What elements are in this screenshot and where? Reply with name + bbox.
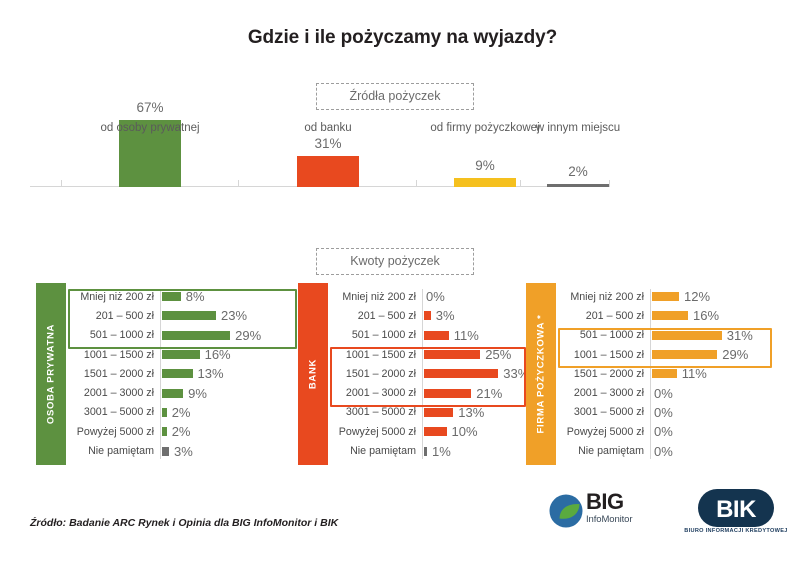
amount-row-bar-area: 8% bbox=[162, 287, 205, 306]
amount-bar-value: 29% bbox=[235, 328, 261, 343]
panel-band-firma: FIRMA POŻYCZKOWA * bbox=[526, 283, 556, 465]
table-row: 201 – 500 zł3% bbox=[332, 306, 526, 325]
amount-bar-value: 10% bbox=[452, 424, 478, 439]
source-category-4: 2%w innym miejscu bbox=[519, 117, 637, 187]
amount-row-label: Powyżej 5000 zł bbox=[560, 422, 644, 441]
amount-bar bbox=[162, 389, 183, 398]
amount-row-bar-area: 0% bbox=[652, 441, 673, 460]
amount-row-label: Nie pamiętam bbox=[332, 441, 416, 460]
amount-row-label: 2001 – 3000 zł bbox=[70, 383, 154, 402]
amount-row-label: 501 – 1000 zł bbox=[332, 326, 416, 345]
amount-row-bar-area: 0% bbox=[652, 403, 673, 422]
amount-bar bbox=[424, 350, 480, 359]
amount-row-bar-area: 0% bbox=[424, 287, 445, 306]
amount-row-bar-area: 31% bbox=[652, 326, 753, 345]
amount-bar bbox=[652, 331, 722, 340]
source-bar-value: 2% bbox=[568, 164, 588, 179]
source-bar-label: w innym miejscu bbox=[536, 122, 620, 134]
amount-row-label: Nie pamiętam bbox=[70, 441, 154, 460]
table-row: 501 – 1000 zł29% bbox=[70, 326, 298, 345]
amount-bar-value: 0% bbox=[426, 289, 445, 304]
amount-bar bbox=[424, 408, 453, 417]
amount-row-bar-area: 16% bbox=[162, 345, 231, 364]
amount-bar-value: 2% bbox=[172, 405, 191, 420]
amount-bar bbox=[424, 369, 498, 378]
rows-firma: Mniej niż 200 zł12%201 – 500 zł16%501 – … bbox=[560, 287, 771, 461]
amount-row-bar-area: 29% bbox=[162, 326, 261, 345]
amount-row-bar-area: 16% bbox=[652, 306, 719, 325]
amount-row-bar-area: 0% bbox=[652, 383, 673, 402]
table-row: 1501 – 2000 zł11% bbox=[560, 364, 771, 383]
table-row: 3001 – 5000 zł0% bbox=[560, 403, 771, 422]
amount-bar-value: 1% bbox=[432, 444, 451, 459]
amount-bar bbox=[162, 311, 216, 320]
amount-bar-value: 31% bbox=[727, 328, 753, 343]
table-row: 201 – 500 zł23% bbox=[70, 306, 298, 325]
source-bar-value: 9% bbox=[475, 158, 495, 173]
amount-row-bar-area: 1% bbox=[424, 441, 451, 460]
amount-bar bbox=[652, 369, 677, 378]
amount-bar-value: 0% bbox=[654, 405, 673, 420]
logo-big-infomonitor: BIG InfoMonitor bbox=[548, 491, 658, 539]
panel-band-label-osoba: OSOBA PRYWATNA bbox=[46, 324, 57, 424]
table-row: 1001 – 1500 zł25% bbox=[332, 345, 526, 364]
panel-osoba-prywatna: OSOBA PRYWATNA Mniej niż 200 zł8%201 – 5… bbox=[36, 283, 298, 465]
source-note: Źródło: Badanie ARC Rynek i Opinia dla B… bbox=[30, 517, 338, 529]
source-bar-value: 67% bbox=[136, 100, 163, 115]
footer-logos: BIG InfoMonitor BIK BIURO INFORMACJI KRE… bbox=[548, 487, 788, 543]
page-title: Gdzie i ile pożyczamy na wyjazdy? bbox=[0, 27, 805, 49]
panel-band-osoba: OSOBA PRYWATNA bbox=[36, 283, 66, 465]
table-row: 501 – 1000 zł11% bbox=[332, 326, 526, 345]
amount-row-bar-area: 25% bbox=[424, 345, 511, 364]
table-row: 1501 – 2000 zł33% bbox=[332, 364, 526, 383]
panel-band-label-firma: FIRMA POŻYCZKOWA * bbox=[536, 314, 547, 433]
amount-row-label: 501 – 1000 zł bbox=[560, 326, 644, 345]
amount-bar-value: 25% bbox=[485, 347, 511, 362]
table-row: 201 – 500 zł16% bbox=[560, 306, 771, 325]
table-row: 1001 – 1500 zł29% bbox=[560, 345, 771, 364]
amount-bar bbox=[162, 292, 181, 301]
amount-row-bar-area: 21% bbox=[424, 383, 502, 402]
amount-row-bar-area: 29% bbox=[652, 345, 748, 364]
amount-bar-value: 0% bbox=[654, 444, 673, 459]
amount-row-label: 1501 – 2000 zł bbox=[560, 364, 644, 383]
table-row: Nie pamiętam0% bbox=[560, 441, 771, 460]
amount-bar-value: 16% bbox=[205, 347, 231, 362]
amount-row-label: Mniej niż 200 zł bbox=[70, 287, 154, 306]
table-row: Mniej niż 200 zł8% bbox=[70, 287, 298, 306]
table-row: 2001 – 3000 zł9% bbox=[70, 383, 298, 402]
sources-bar-chart: 67%od osoby prywatnej31%od banku9%od fir… bbox=[30, 105, 610, 205]
amount-row-label: 501 – 1000 zł bbox=[70, 326, 154, 345]
amount-row-label: 1001 – 1500 zł bbox=[332, 345, 416, 364]
amount-row-bar-area: 23% bbox=[162, 306, 247, 325]
amount-row-bar-area: 13% bbox=[162, 364, 224, 383]
table-row: 1501 – 2000 zł13% bbox=[70, 364, 298, 383]
amount-row-label: 201 – 500 zł bbox=[560, 306, 644, 325]
amount-row-label: 1001 – 1500 zł bbox=[560, 345, 644, 364]
table-row: Mniej niż 200 zł12% bbox=[560, 287, 771, 306]
amount-bar bbox=[652, 292, 679, 301]
amount-bar-value: 11% bbox=[682, 366, 707, 381]
amount-row-label: Mniej niż 200 zł bbox=[332, 287, 416, 306]
amount-row-label: 201 – 500 zł bbox=[332, 306, 416, 325]
amount-bar-value: 0% bbox=[654, 386, 673, 401]
big-logo-wordmark: BIG InfoMonitor bbox=[586, 490, 632, 525]
source-bar: 31% bbox=[297, 156, 359, 187]
section-header-amounts: Kwoty pożyczek bbox=[316, 248, 474, 275]
amount-row-label: 1001 – 1500 zł bbox=[70, 345, 154, 364]
amount-bar bbox=[652, 350, 717, 359]
big-logo-subtitle: InfoMonitor bbox=[586, 514, 632, 525]
amount-row-label: 1501 – 2000 zł bbox=[70, 364, 154, 383]
table-row: Powyżej 5000 zł0% bbox=[560, 422, 771, 441]
amount-row-bar-area: 3% bbox=[162, 441, 193, 460]
panel-band-bank: BANK bbox=[298, 283, 328, 465]
amount-bar-value: 2% bbox=[172, 424, 191, 439]
amount-row-bar-area: 12% bbox=[652, 287, 710, 306]
amount-bar bbox=[162, 408, 167, 417]
source-bar-label: od osoby prywatnej bbox=[100, 122, 199, 134]
amount-bar-value: 13% bbox=[198, 366, 224, 381]
amount-bar bbox=[162, 427, 167, 436]
amount-bar bbox=[162, 369, 193, 378]
amount-bar-value: 12% bbox=[684, 289, 710, 304]
amount-bar-value: 13% bbox=[458, 405, 484, 420]
rows-osoba: Mniej niż 200 zł8%201 – 500 zł23%501 – 1… bbox=[70, 287, 298, 461]
amount-bar bbox=[162, 447, 169, 456]
table-row: 3001 – 5000 zł13% bbox=[332, 403, 526, 422]
amount-bar-value: 21% bbox=[476, 386, 502, 401]
amount-bar-value: 16% bbox=[693, 308, 719, 323]
amount-bar-value: 3% bbox=[436, 308, 455, 323]
amount-bar bbox=[652, 311, 688, 320]
amount-bar bbox=[424, 427, 447, 436]
amount-bar bbox=[424, 311, 431, 320]
amount-row-bar-area: 10% bbox=[424, 422, 478, 441]
source-bar-label: od banku bbox=[304, 122, 351, 134]
amount-bar-value: 8% bbox=[186, 289, 205, 304]
amount-row-bar-area: 11% bbox=[424, 326, 479, 345]
amount-bar bbox=[424, 447, 427, 456]
amount-bar-value: 11% bbox=[454, 328, 479, 343]
source-bar-value: 31% bbox=[314, 136, 341, 151]
amount-bar-value: 0% bbox=[654, 424, 673, 439]
table-row: 2001 – 3000 zł21% bbox=[332, 383, 526, 402]
amount-bar bbox=[424, 331, 449, 340]
amount-row-bar-area: 3% bbox=[424, 306, 455, 325]
panel-firma-pozyczkowa: FIRMA POŻYCZKOWA * Mniej niż 200 zł12%20… bbox=[526, 283, 771, 465]
amount-row-label: Mniej niż 200 zł bbox=[560, 287, 644, 306]
amount-bar bbox=[162, 331, 230, 340]
amount-bar-value: 23% bbox=[221, 308, 247, 323]
source-category-2: 31%od banku bbox=[240, 117, 417, 187]
big-logo-icon bbox=[548, 493, 584, 529]
amount-row-label: Powyżej 5000 zł bbox=[332, 422, 416, 441]
amount-row-bar-area: 2% bbox=[162, 422, 190, 441]
amount-bar-value: 3% bbox=[174, 444, 193, 459]
table-row: Powyżej 5000 zł2% bbox=[70, 422, 298, 441]
source-category-1: 67%od osoby prywatnej bbox=[62, 117, 239, 187]
table-row: 1001 – 1500 zł16% bbox=[70, 345, 298, 364]
panel-bank: BANK Mniej niż 200 zł0%201 – 500 zł3%501… bbox=[298, 283, 526, 465]
amount-bar bbox=[162, 350, 200, 359]
table-row: Nie pamiętam3% bbox=[70, 441, 298, 460]
amount-row-label: 3001 – 5000 zł bbox=[70, 403, 154, 422]
amount-row-bar-area: 13% bbox=[424, 403, 484, 422]
amount-bar-value: 29% bbox=[722, 347, 748, 362]
table-row: 2001 – 3000 zł0% bbox=[560, 383, 771, 402]
amount-row-label: Nie pamiętam bbox=[560, 441, 644, 460]
table-row: 501 – 1000 zł31% bbox=[560, 326, 771, 345]
amount-bar bbox=[424, 389, 471, 398]
amount-row-label: 201 – 500 zł bbox=[70, 306, 154, 325]
bik-logo-subtitle: BIURO INFORMACJI KREDYTOWEJ bbox=[676, 528, 796, 534]
amount-row-label: 1501 – 2000 zł bbox=[332, 364, 416, 383]
amount-row-label: 3001 – 5000 zł bbox=[332, 403, 416, 422]
logo-bik: BIK BIURO INFORMACJI KREDYTOWEJ bbox=[676, 489, 796, 541]
bik-logo-icon: BIK bbox=[684, 489, 788, 527]
amount-row-label: 2001 – 3000 zł bbox=[332, 383, 416, 402]
source-bar: 2% bbox=[547, 184, 609, 187]
svg-text:BIK: BIK bbox=[716, 496, 757, 523]
amount-row-bar-area: 0% bbox=[652, 422, 673, 441]
table-row: Nie pamiętam1% bbox=[332, 441, 526, 460]
amount-bar-value: 9% bbox=[188, 386, 207, 401]
infographic-page: Gdzie i ile pożyczamy na wyjazdy? Źródła… bbox=[0, 0, 805, 565]
table-row: 3001 – 5000 zł2% bbox=[70, 403, 298, 422]
source-bar: 9% bbox=[454, 178, 516, 187]
panel-band-label-bank: BANK bbox=[308, 359, 319, 389]
table-row: Powyżej 5000 zł10% bbox=[332, 422, 526, 441]
amount-row-bar-area: 11% bbox=[652, 364, 707, 383]
rows-bank: Mniej niż 200 zł0%201 – 500 zł3%501 – 10… bbox=[332, 287, 526, 461]
amount-row-bar-area: 9% bbox=[162, 383, 207, 402]
amount-row-label: 3001 – 5000 zł bbox=[560, 403, 644, 422]
amount-row-label: 2001 – 3000 zł bbox=[560, 383, 644, 402]
table-row: Mniej niż 200 zł0% bbox=[332, 287, 526, 306]
amount-row-bar-area: 2% bbox=[162, 403, 190, 422]
amount-row-label: Powyżej 5000 zł bbox=[70, 422, 154, 441]
big-logo-title: BIG bbox=[586, 490, 632, 514]
amount-row-bar-area: 33% bbox=[424, 364, 529, 383]
